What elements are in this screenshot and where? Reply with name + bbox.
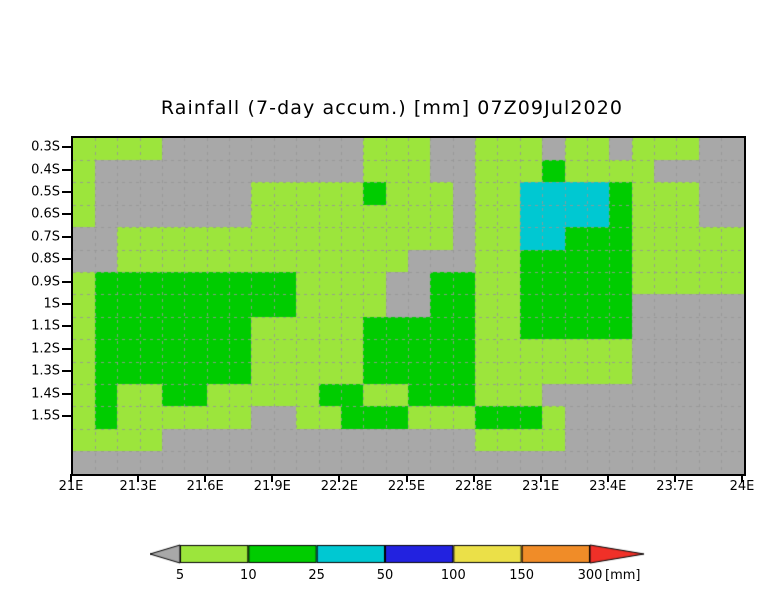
y-axis-tick [62,415,71,417]
colorbar-tick-label: 100 [441,568,466,583]
colorbar-tick-label: 150 [509,568,534,583]
y-axis-label: 1.2S [31,341,60,356]
x-axis-label: 22.2E [321,479,358,494]
y-axis-label: 1.5S [31,409,60,424]
y-axis-tick [62,213,71,215]
y-axis-tick [62,258,71,260]
colorbar-tick-label: 5 [176,568,184,583]
y-axis-tick [62,236,71,238]
y-axis-tick [62,191,71,193]
page-title: Rainfall (7-day accum.) [mm] 07Z09Jul202… [0,97,784,119]
colorbar-unit-label: [mm] [605,568,640,583]
x-axis-label: 21.6E [187,479,224,494]
y-axis-label: 0.9S [31,274,60,289]
rainfall-chart-page: Rainfall (7-day accum.) [mm] 07Z09Jul202… [0,0,784,612]
x-axis-label: 23.4E [589,479,626,494]
x-axis-label: 21.9E [254,479,291,494]
x-axis-label: 22.8E [455,479,492,494]
x-axis-label: 24E [730,479,755,494]
colorbar-swatches [150,541,650,567]
colorbar-tick-label: 50 [377,568,394,583]
colorbar-tick-label: 300 [578,568,603,583]
y-axis-label: 1.1S [31,319,60,334]
y-axis-tick [62,146,71,148]
colorbar-tick-label: 25 [308,568,325,583]
x-axis-label: 23.7E [656,479,693,494]
y-axis-tick [62,348,71,350]
y-axis-label: 1S [43,297,60,312]
colorbar-tick-label: 10 [240,568,257,583]
x-axis-label: 21.3E [120,479,157,494]
colorbar-legend: [mm] 5102550100150300 [150,541,650,585]
x-axis-label: 23.1E [522,479,559,494]
plot-area [71,136,746,476]
x-axis-label: 22.5E [388,479,425,494]
y-axis-tick [62,325,71,327]
y-axis-tick [62,303,71,305]
y-axis-tick [62,370,71,372]
y-axis-tick [62,393,71,395]
y-axis-label: 0.5S [31,185,60,200]
y-axis-label: 0.6S [31,207,60,222]
y-axis-label: 0.3S [31,140,60,155]
y-axis-label: 1.4S [31,386,60,401]
y-axis-label: 0.7S [31,229,60,244]
y-axis-label: 0.8S [31,252,60,267]
rainfall-heatmap [73,138,744,474]
y-axis-label: 0.4S [31,162,60,177]
y-axis-tick [62,281,71,283]
x-axis-label: 21E [59,479,84,494]
y-axis-tick [62,169,71,171]
y-axis-label: 1.3S [31,364,60,379]
